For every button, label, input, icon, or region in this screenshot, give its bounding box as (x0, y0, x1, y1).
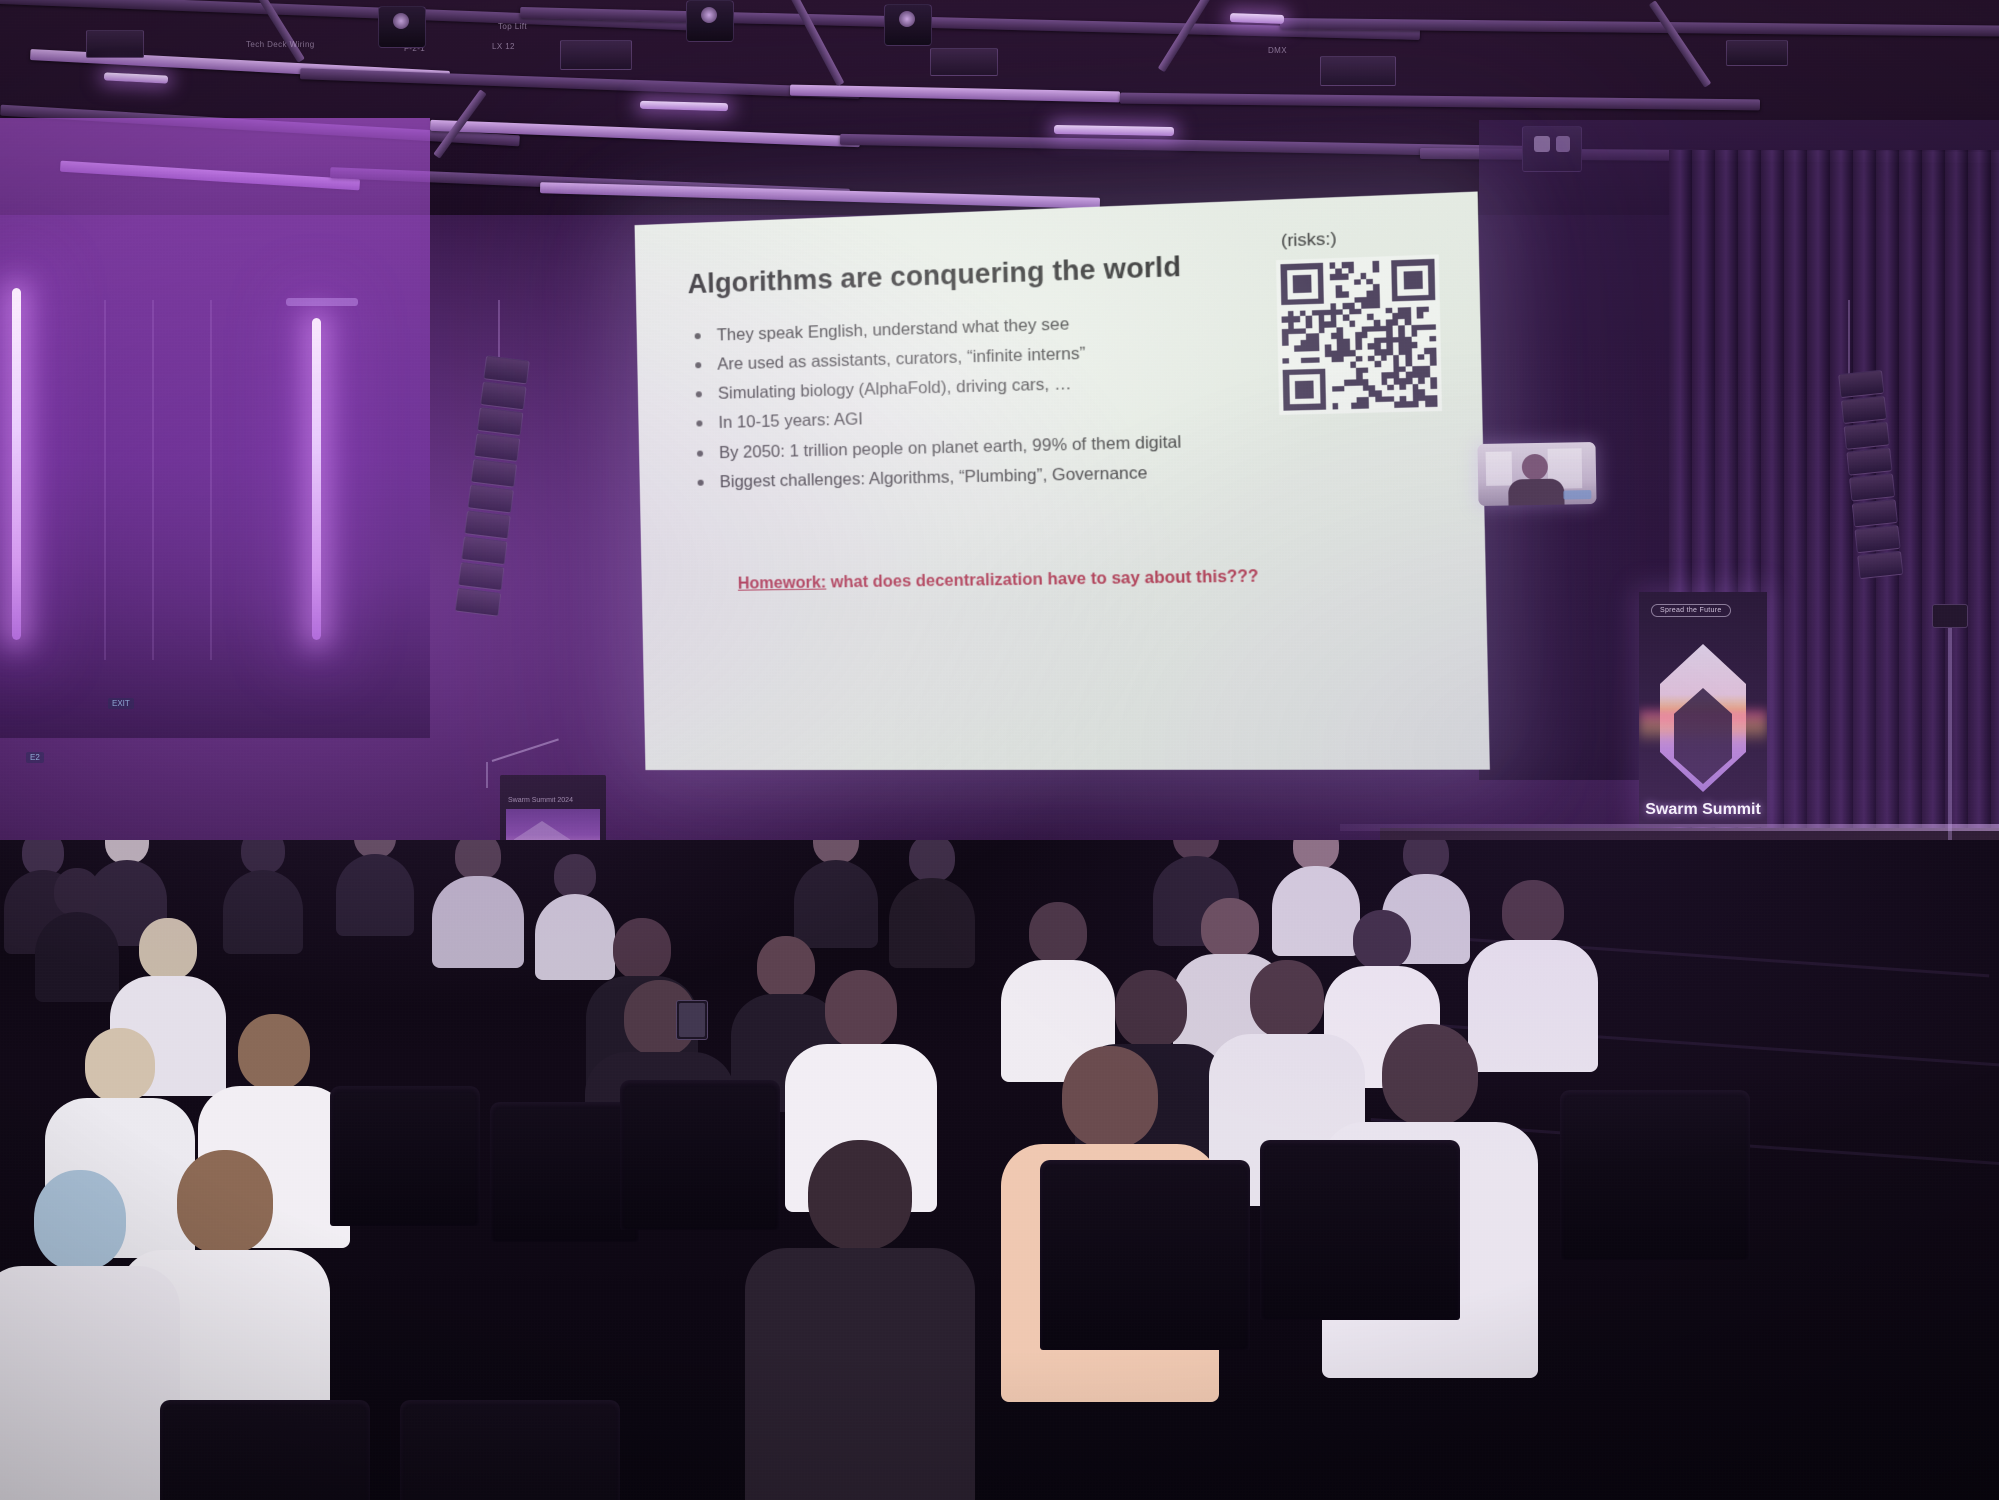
seat-chair-back (620, 1080, 780, 1230)
wall-sign: E2 (26, 752, 44, 763)
stage-spotlight (686, 0, 734, 42)
wall-sign: EXIT (108, 698, 134, 709)
phone-held-up (676, 1000, 708, 1040)
list-item: Biggest challenges: Algorithms, “Plumbin… (691, 456, 1439, 493)
banner-title: Swarm Summit (1639, 801, 1767, 819)
ceiling-tag: Top Lift (498, 22, 527, 31)
ceiling-tag: Tech Deck Wiring (246, 40, 315, 49)
audience-member (760, 1140, 960, 1500)
seat-chair-back (330, 1086, 480, 1226)
audience-member (800, 840, 872, 942)
wall-light-bracket (286, 298, 358, 306)
wall-light-tube (312, 318, 321, 640)
auditorium-photo: Top Lift Tech Deck Wiring F-2-1 LX 12 DM… (0, 0, 1999, 1500)
projection-screen: Algorithms are conquering the world (ris… (635, 191, 1490, 770)
ceiling-tag: LX 12 (492, 42, 515, 51)
seat-chair-back (1040, 1160, 1250, 1350)
wall-light-tube (12, 288, 21, 640)
audience-member (340, 840, 410, 934)
banner-tagline: Spread the Future (1651, 604, 1731, 617)
seat-chair-back (400, 1400, 620, 1500)
homework-label: Homework: (738, 574, 827, 592)
seat-chair-back (490, 1102, 640, 1242)
ceiling-tag: DMX (1268, 46, 1287, 55)
seat-chair-back (1260, 1140, 1460, 1320)
audience-member (0, 1170, 160, 1500)
homework-note: Homework: what does decentralization hav… (738, 568, 1259, 594)
audience-member (42, 868, 112, 988)
audience-member (896, 840, 968, 960)
slide-content: Algorithms are conquering the world (ris… (635, 191, 1490, 770)
camera-head (1932, 604, 1968, 628)
seat-chair-back (1560, 1090, 1750, 1260)
audience-member (228, 840, 298, 948)
stage-edge (1340, 824, 1999, 831)
remote-speaker-video-tile[interactable] (1477, 442, 1596, 506)
audience-area: Spread the Future (0, 840, 1999, 1500)
stage-spotlight (378, 6, 426, 48)
stage-spotlight (884, 4, 932, 46)
left-wall (0, 118, 430, 738)
video-name-badge (1563, 490, 1591, 499)
risks-label: (risks:) (1281, 229, 1337, 252)
lectern-tag: Swarm Summit 2024 (508, 797, 573, 804)
audience-member (440, 840, 516, 962)
microphone-stem (486, 762, 488, 788)
swarm-summit-banner: Spread the Future Swarm Summit (1639, 592, 1767, 827)
qr-code[interactable] (1276, 254, 1442, 415)
seat-chair-back (160, 1400, 370, 1500)
homework-text: what does decentralization have to say a… (826, 568, 1259, 591)
